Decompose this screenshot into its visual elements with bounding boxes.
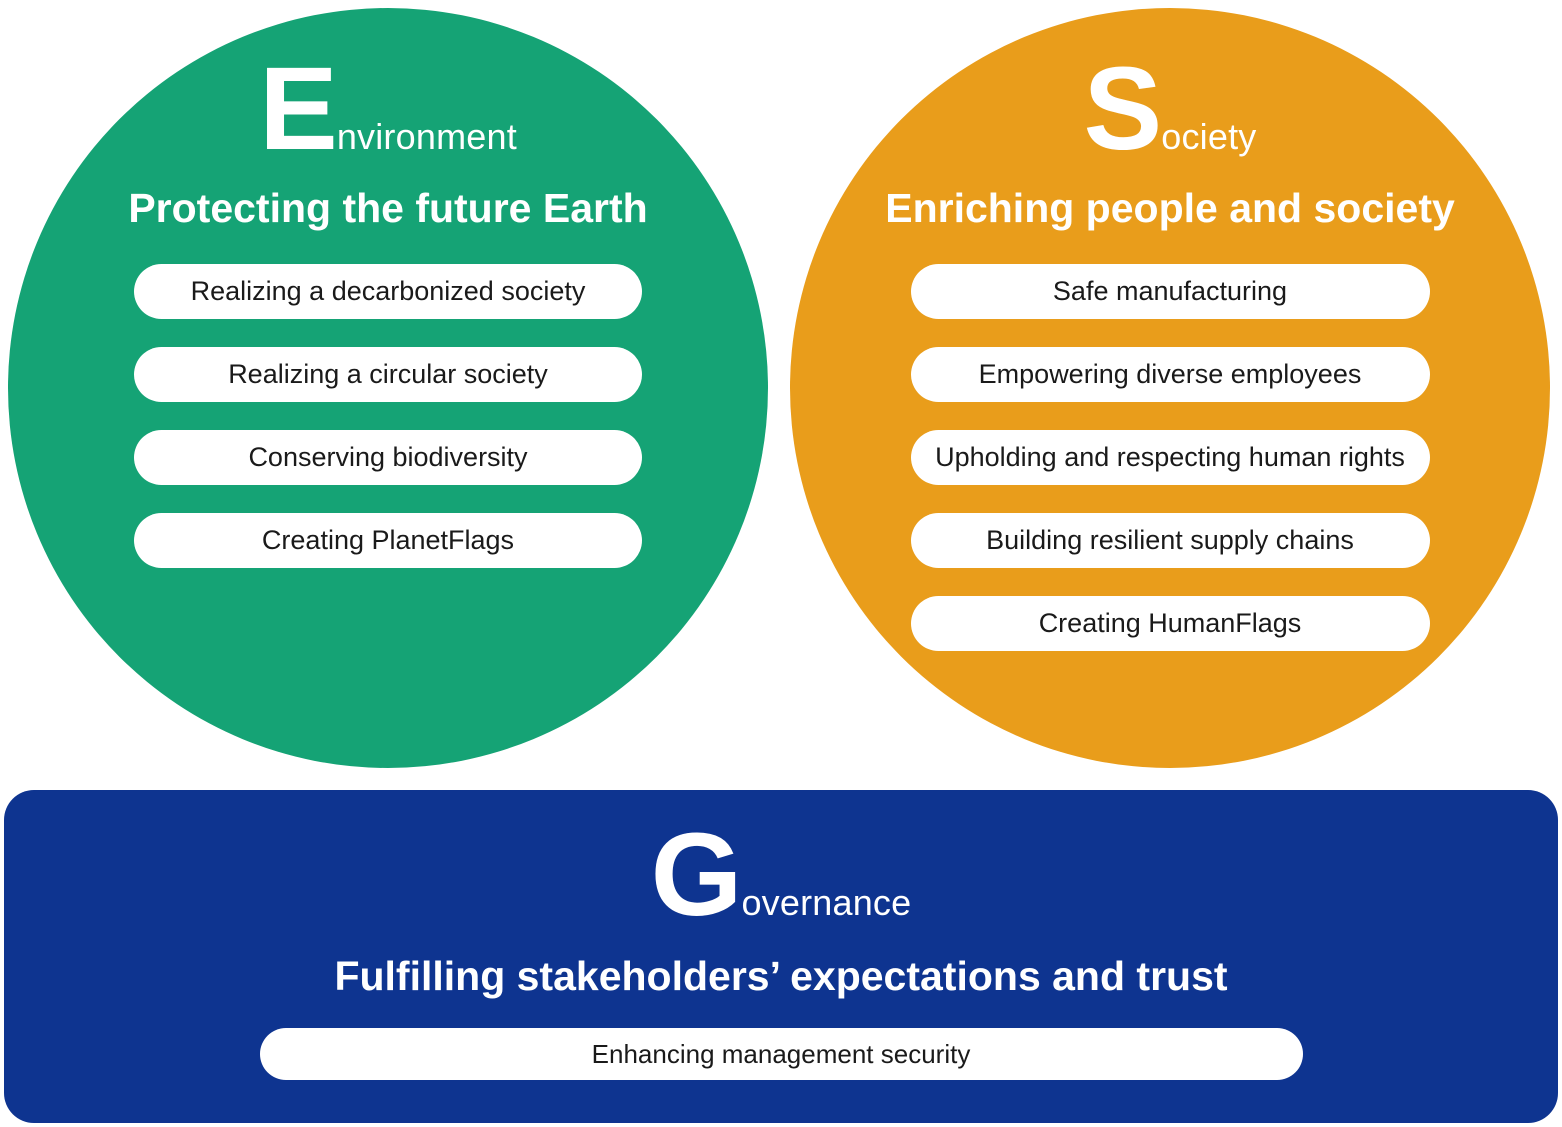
pillar-society-tagline: Enriching people and society bbox=[885, 186, 1455, 231]
pillar-environment: Environment Protecting the future Earth … bbox=[8, 8, 768, 768]
list-item[interactable]: Upholding and respecting human rights bbox=[911, 430, 1430, 485]
pillar-environment-title: Environment bbox=[259, 50, 517, 168]
list-item[interactable]: Conserving biodiversity bbox=[134, 430, 642, 485]
pillar-governance: Governance Fulfilling stakeholders’ expe… bbox=[4, 790, 1558, 1123]
environment-pill-list: Realizing a decarbonized society Realizi… bbox=[134, 264, 642, 568]
list-item[interactable]: Empowering diverse employees bbox=[911, 347, 1430, 402]
pillar-society-initial: S bbox=[1084, 43, 1162, 175]
governance-pill-list: Enhancing management security bbox=[260, 1028, 1303, 1080]
list-item[interactable]: Realizing a circular society bbox=[134, 347, 642, 402]
list-item[interactable]: Building resilient supply chains bbox=[911, 513, 1430, 568]
pillar-society: Society Enriching people and society Saf… bbox=[790, 8, 1550, 768]
pillar-society-title: Society bbox=[1084, 50, 1257, 168]
esg-diagram: Environment Protecting the future Earth … bbox=[0, 0, 1562, 1127]
pillar-environment-tagline: Protecting the future Earth bbox=[128, 186, 647, 231]
list-item[interactable]: Enhancing management security bbox=[260, 1028, 1303, 1080]
society-pill-list: Safe manufacturing Empowering diverse em… bbox=[911, 264, 1430, 651]
pillar-governance-rest: overnance bbox=[741, 882, 911, 923]
pillar-environment-initial: E bbox=[259, 43, 337, 175]
pillar-governance-tagline: Fulfilling stakeholders’ expectations an… bbox=[334, 954, 1227, 999]
list-item[interactable]: Creating HumanFlags bbox=[911, 596, 1430, 651]
pillar-governance-initial: G bbox=[651, 809, 742, 941]
pillar-society-rest: ociety bbox=[1161, 116, 1256, 157]
pillar-environment-rest: nvironment bbox=[337, 116, 517, 157]
list-item[interactable]: Realizing a decarbonized society bbox=[134, 264, 642, 319]
list-item[interactable]: Creating PlanetFlags bbox=[134, 513, 642, 568]
list-item[interactable]: Safe manufacturing bbox=[911, 264, 1430, 319]
pillar-governance-title: Governance bbox=[651, 816, 912, 934]
